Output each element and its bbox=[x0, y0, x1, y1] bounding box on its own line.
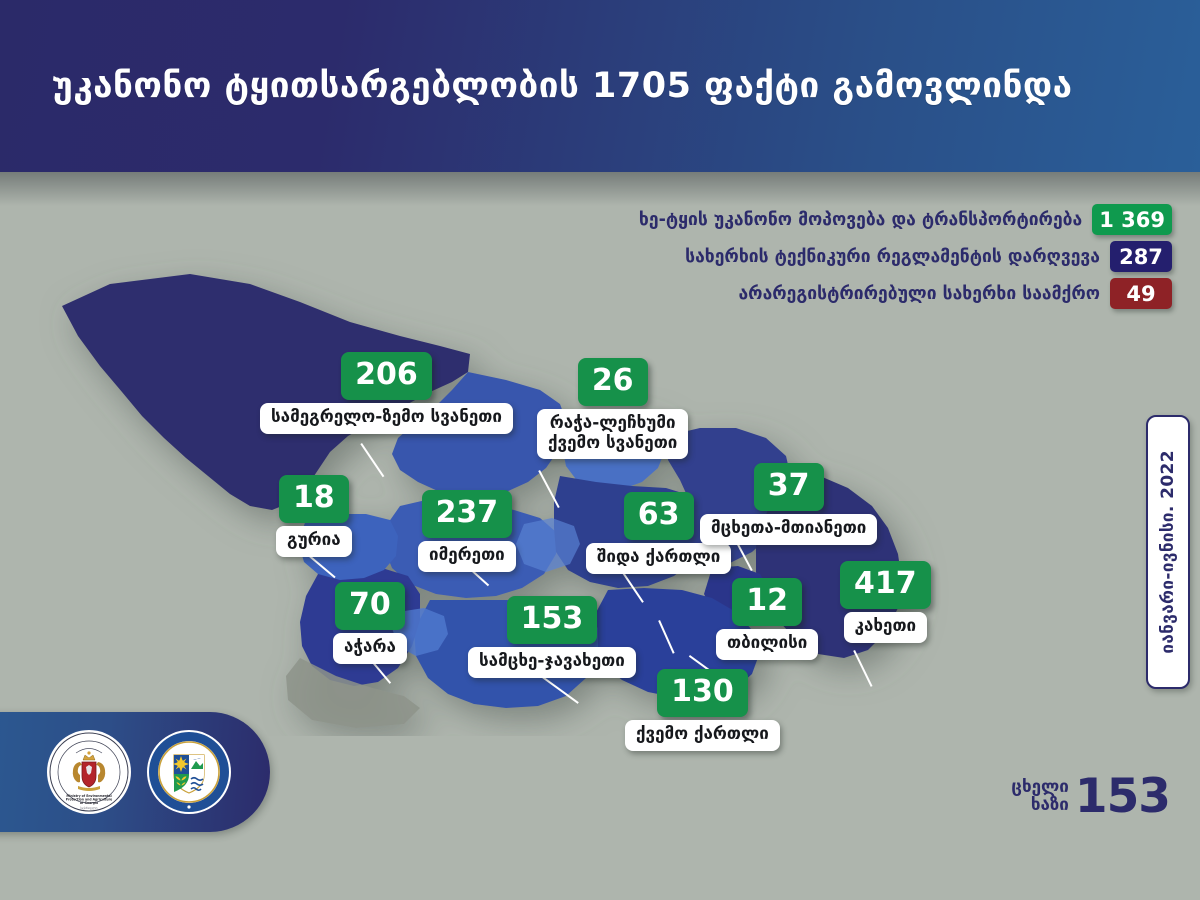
marker-kvemo-kartli[interactable]: 130 ქვემო ქართლი bbox=[625, 669, 780, 751]
region-name-chip: იმერეთი bbox=[418, 541, 516, 572]
svg-text:of Georgia: of Georgia bbox=[80, 801, 98, 805]
legend-value-badge: 1 369 bbox=[1092, 204, 1172, 235]
header-shadow bbox=[0, 172, 1200, 206]
region-name-chip: კახეთი bbox=[844, 612, 928, 643]
region-name-chip: სამეგრელო-ზემო სვანეთი bbox=[260, 403, 513, 434]
hotline: ცხელი ხაზი 153 bbox=[1011, 775, 1170, 818]
region-value-badge: 18 bbox=[279, 475, 349, 523]
reporting-period-box: იანვარი-ივნისი. 2022 bbox=[1146, 415, 1190, 689]
region-name-chip: თბილისი bbox=[716, 629, 818, 660]
marker-imereti[interactable]: 237 იმერეთი bbox=[418, 490, 516, 572]
page-header: უკანონო ტყითსარგებლობის 1705 ფაქტი გამოვ… bbox=[0, 0, 1200, 172]
region-value-badge: 37 bbox=[754, 463, 824, 511]
region-value-badge: 206 bbox=[341, 352, 432, 400]
hotline-label: ცხელი ხაზი bbox=[1011, 779, 1069, 814]
environmental-supervision-emblem-icon bbox=[146, 729, 232, 815]
marker-samegrelo-zemo-svaneti[interactable]: 206 სამეგრელო-ზემო სვანეთი bbox=[260, 352, 513, 434]
legend-item-sawmill-regulation-violation: სახერხის ტექნიკური რეგლამენტის დარღვევა … bbox=[685, 241, 1172, 272]
legend-label: ხე-ტყის უკანონო მოპოვება და ტრანსპორტირე… bbox=[639, 210, 1082, 230]
legend-item-unregistered-sawmill: არარეგისტრირებული სახერხი საამქრო 49 bbox=[738, 278, 1172, 309]
hotline-label-line1: ცხელი bbox=[1011, 779, 1069, 796]
legend-label: არარეგისტრირებული სახერხი საამქრო bbox=[738, 284, 1100, 304]
region-name-line1: რაჭა-ლეჩხუმი bbox=[550, 413, 676, 433]
region-name-chip: ქვემო ქართლი bbox=[625, 720, 780, 751]
marker-adjara[interactable]: 70 აჭარა bbox=[333, 582, 407, 664]
svg-text:საქართველო: საქართველო bbox=[81, 806, 98, 810]
marker-guria[interactable]: 18 გურია bbox=[276, 475, 352, 557]
legend-value-badge: 49 bbox=[1110, 278, 1172, 309]
legend-item-illegal-logging: ხე-ტყის უკანონო მოპოვება და ტრანსპორტირე… bbox=[639, 204, 1172, 235]
page-title: უკანონო ტყითსარგებლობის 1705 ფაქტი გამოვ… bbox=[0, 66, 1072, 106]
marker-tbilisi[interactable]: 12 თბილისი bbox=[716, 578, 818, 660]
region-name-chip: შიდა ქართლი bbox=[586, 543, 731, 574]
region-name-chip: მცხეთა-მთიანეთი bbox=[700, 514, 877, 545]
region-value-badge: 417 bbox=[840, 561, 931, 609]
legend: ხე-ტყის უკანონო მოპოვება და ტრანსპორტირე… bbox=[639, 204, 1172, 309]
ministry-emblem-icon: Ministry of Environmental Protection and… bbox=[46, 729, 132, 815]
marker-racha-lechkhumi-kvemo-svaneti[interactable]: 26 რაჭა-ლეჩხუმი ქვემო სვანეთი bbox=[537, 358, 688, 459]
hotline-label-line2: ხაზი bbox=[1011, 797, 1069, 814]
region-value-badge: 153 bbox=[507, 596, 598, 644]
reporting-period-label: იანვარი-ივნისი. 2022 bbox=[1158, 450, 1178, 654]
hotline-number: 153 bbox=[1075, 775, 1170, 818]
legend-value-badge: 287 bbox=[1110, 241, 1172, 272]
marker-kakheti[interactable]: 417 კახეთი bbox=[840, 561, 931, 643]
region-name-chip: სამცხე-ჯავახეთი bbox=[468, 647, 636, 678]
region-name-chip: რაჭა-ლეჩხუმი ქვემო სვანეთი bbox=[537, 409, 688, 459]
region-name-chip: გურია bbox=[276, 526, 352, 557]
region-value-badge: 63 bbox=[624, 492, 694, 540]
region-value-badge: 237 bbox=[422, 490, 513, 538]
region-value-badge: 70 bbox=[335, 582, 405, 630]
region-name-line2: ქვემო სვანეთი bbox=[548, 433, 677, 453]
region-value-badge: 26 bbox=[578, 358, 648, 406]
region-value-badge: 12 bbox=[732, 578, 802, 626]
region-value-badge: 130 bbox=[657, 669, 748, 717]
legend-label: სახერხის ტექნიკური რეგლამენტის დარღვევა bbox=[685, 247, 1100, 267]
logo-bar: Ministry of Environmental Protection and… bbox=[0, 712, 270, 832]
marker-samtskhe-javakheti[interactable]: 153 სამცხე-ჯავახეთი bbox=[468, 596, 636, 678]
region-name-chip: აჭარა bbox=[333, 633, 407, 664]
marker-mtskheta-mtianeti[interactable]: 37 მცხეთა-მთიანეთი bbox=[700, 463, 877, 545]
